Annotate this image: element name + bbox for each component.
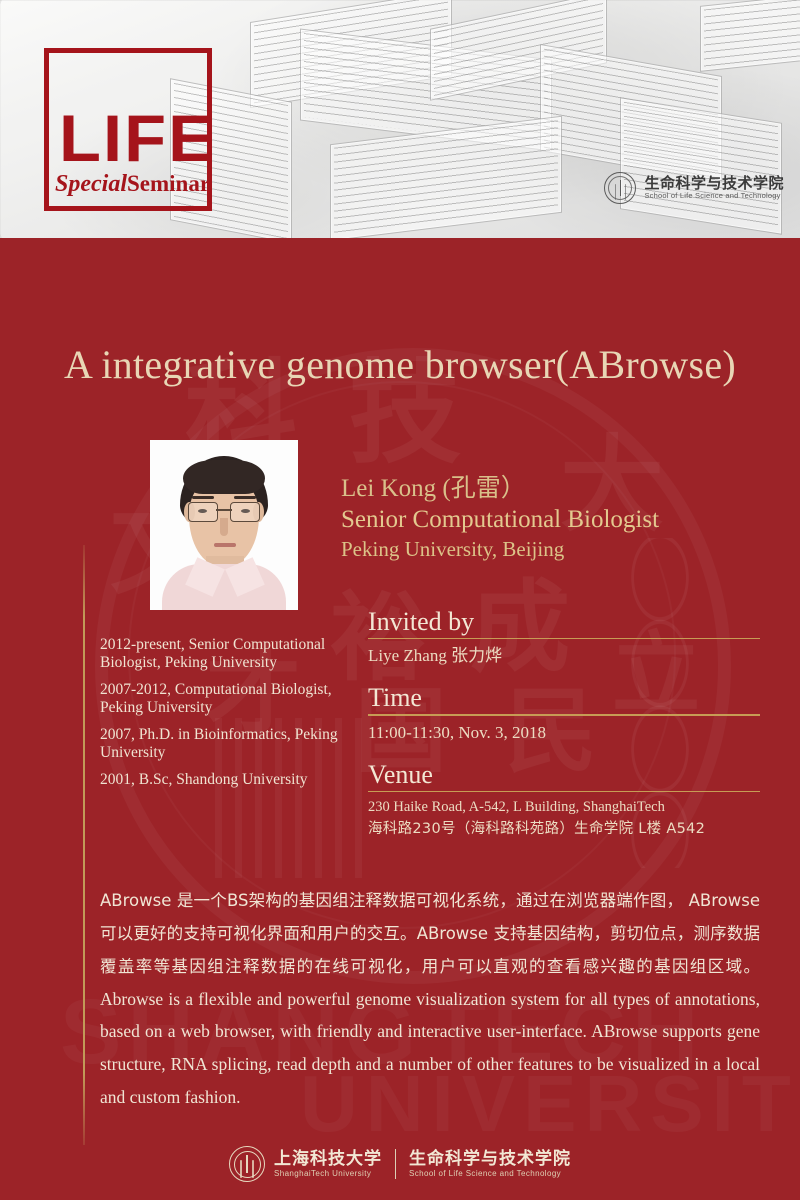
shanghaitech-footer-seal-icon <box>229 1146 265 1182</box>
event-details: Invited by Liye Zhang 张力烨 Time 11:00-11:… <box>368 608 760 841</box>
header-school-text: 生命科学与技术学院 School of Life Science and Tec… <box>644 175 784 200</box>
portrait-fringe <box>183 460 265 494</box>
abstract-chinese: ABrowse 是一个BS架构的基因组注释数据可视化系统，通过在浏览器端作图， … <box>100 891 760 976</box>
bio-item: 2007, Ph.D. in Bioinformatics, Peking Un… <box>100 726 350 762</box>
venue-heading: Venue <box>368 761 760 791</box>
venue-address-en: 230 Haike Road, A-542, L Building, Shang… <box>368 798 760 820</box>
poster-header: LIFE SpecialSeminar 生命科学与技术学院 School of … <box>0 0 800 238</box>
footer-university-en: ShanghaiTech University <box>274 1169 382 1178</box>
abstract-paragraph: ABrowse 是一个BS架构的基因组注释数据可视化系统，通过在浏览器端作图， … <box>100 884 760 1113</box>
portrait-nose <box>220 518 228 536</box>
speaker-portrait-photo <box>150 440 298 610</box>
speaker-biography-list: 2012-present, Senior Computational Biolo… <box>100 636 350 798</box>
portrait-lens-right <box>230 502 260 522</box>
time-value: 11:00-11:30, Nov. 3, 2018 <box>368 722 760 747</box>
time-divider <box>368 714 760 715</box>
header-school-name-cn: 生命科学与技术学院 <box>644 175 784 192</box>
invited-by-value: Liye Zhang 张力烨 <box>368 645 760 670</box>
footer-school-en: School of Life Science and Technology <box>409 1169 571 1178</box>
bio-item: 2012-present, Senior Computational Biolo… <box>100 636 350 672</box>
life-seminar-logo: LIFE SpecialSeminar <box>44 48 212 211</box>
header-school-logo: 生命科学与技术学院 School of Life Science and Tec… <box>604 172 784 204</box>
speaker-position: Senior Computational Biologist <box>341 505 771 536</box>
header-school-name-en: School of Life Science and Technology <box>644 192 784 200</box>
bio-item: 2001, B.Sc, Shandong University <box>100 771 350 789</box>
venue-block: Venue 230 Haike Road, A-542, L Building,… <box>368 761 760 842</box>
portrait-glasses-bridge <box>216 509 232 511</box>
footer-university-text: 上海科技大学 ShanghaiTech University <box>274 1150 382 1178</box>
page-title: A integrative genome browser(ABrowse) <box>0 341 800 388</box>
poster-footer: 上海科技大学 ShanghaiTech University 生命科学与技术学院… <box>0 1146 800 1182</box>
life-logo-special: Special <box>55 171 127 197</box>
venue-divider <box>368 791 760 792</box>
footer-school-text: 生命科学与技术学院 School of Life Science and Tec… <box>409 1150 571 1178</box>
footer-school-cn: 生命科学与技术学院 <box>409 1150 571 1169</box>
speaker-name: Lei Kong (孔雷） <box>341 473 771 505</box>
portrait-mouth <box>214 543 236 547</box>
life-logo-word: LIFE <box>59 105 213 171</box>
shanghaitech-seal-icon <box>604 172 636 204</box>
seminar-poster: LIFE SpecialSeminar 生命科学与技术学院 School of … <box>0 0 800 1200</box>
footer-divider <box>395 1149 396 1179</box>
speaker-affiliation: Peking University, Beijing <box>341 536 771 563</box>
invited-by-block: Invited by Liye Zhang 张力烨 <box>368 608 760 670</box>
time-heading: Time <box>368 684 760 714</box>
venue-address-cn: 海科路230号（海科路科苑路）生命学院 L楼 A542 <box>368 820 760 842</box>
bio-item: 2007-2012, Computational Biologist, Peki… <box>100 681 350 717</box>
time-block: Time 11:00-11:30, Nov. 3, 2018 <box>368 684 760 746</box>
portrait-eyebrow-left <box>192 496 214 499</box>
life-logo-seminar: Seminar <box>127 171 210 196</box>
invited-by-heading: Invited by <box>368 608 760 638</box>
left-vertical-divider <box>83 545 85 1145</box>
footer-university-cn: 上海科技大学 <box>274 1150 382 1169</box>
life-logo-subtitle: SpecialSeminar <box>55 171 213 198</box>
sketch-building <box>700 0 800 72</box>
invited-by-divider <box>368 638 760 639</box>
speaker-info: Lei Kong (孔雷） Senior Computational Biolo… <box>341 473 771 563</box>
abstract-english: Abrowse is a flexible and powerful genom… <box>100 989 760 1107</box>
portrait-lens-left <box>188 502 218 522</box>
portrait-eyebrow-right <box>234 496 256 499</box>
